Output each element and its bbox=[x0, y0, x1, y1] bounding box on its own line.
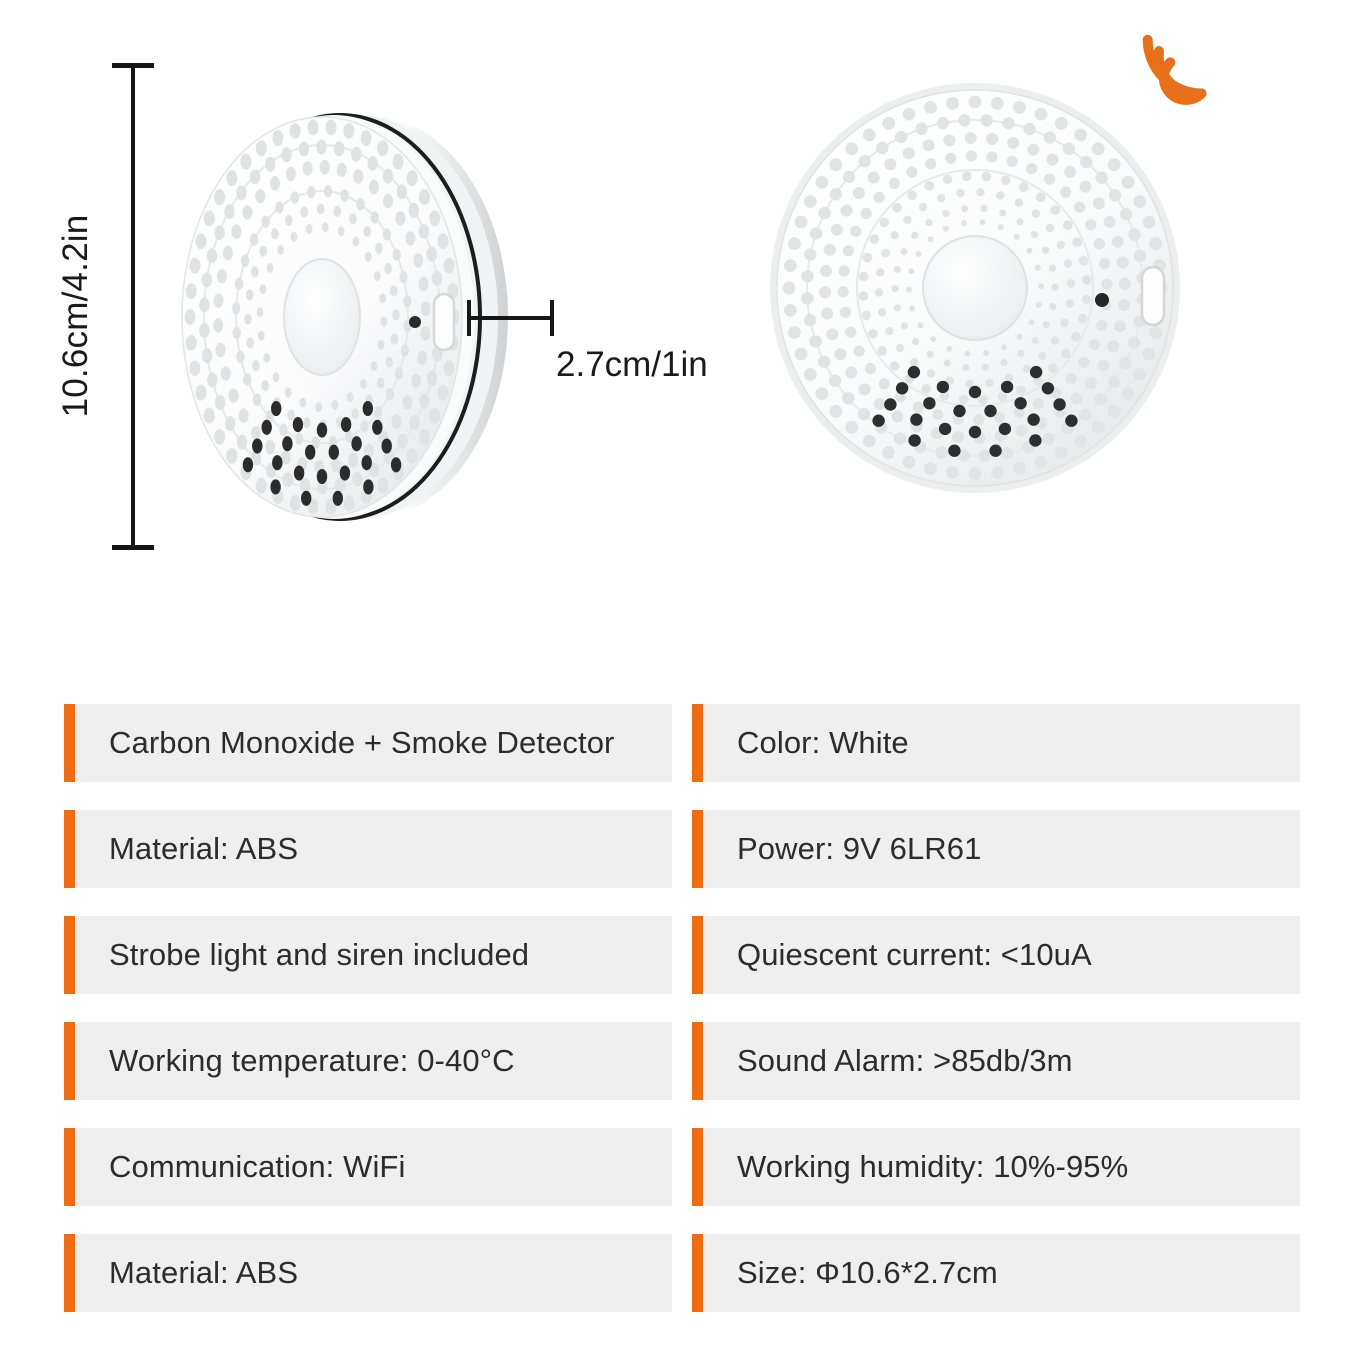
spec-label: Power: 9V 6LR61 bbox=[692, 832, 981, 866]
spec-label: Size: Φ10.6*2.7cm bbox=[692, 1256, 998, 1290]
depth-dimension-label: 2.7cm/1in bbox=[556, 345, 708, 385]
depth-dimension-cap-right bbox=[550, 300, 554, 336]
spec-row: Working humidity: 10%-95% bbox=[692, 1128, 1300, 1206]
spec-row: Communication: WiFi bbox=[64, 1128, 672, 1206]
spec-accent-bar bbox=[64, 916, 75, 994]
spec-row: Carbon Monoxide + Smoke Detector bbox=[64, 704, 672, 782]
spec-column-right: Color: WhitePower: 9V 6LR61Quiescent cur… bbox=[692, 704, 1300, 1340]
smoke-detector-front bbox=[757, 60, 1207, 510]
spec-accent-bar bbox=[692, 704, 703, 782]
spec-row: Power: 9V 6LR61 bbox=[692, 810, 1300, 888]
product-image-panel: 10.6cm/4.2in 2.7cm/1in bbox=[0, 0, 1360, 660]
spec-accent-bar bbox=[692, 810, 703, 888]
spec-accent-bar bbox=[64, 1128, 75, 1206]
spec-label: Strobe light and siren included bbox=[64, 938, 529, 972]
spec-row: Sound Alarm: >85db/3m bbox=[692, 1022, 1300, 1100]
depth-dimension-line bbox=[468, 316, 554, 320]
spec-row: Strobe light and siren included bbox=[64, 916, 672, 994]
spec-label: Sound Alarm: >85db/3m bbox=[692, 1044, 1073, 1078]
spec-row: Quiescent current: <10uA bbox=[692, 916, 1300, 994]
spec-column-left: Carbon Monoxide + Smoke DetectorMaterial… bbox=[64, 704, 672, 1340]
spec-row: Working temperature: 0-40°C bbox=[64, 1022, 672, 1100]
spec-row: Color: White bbox=[692, 704, 1300, 782]
spec-accent-bar bbox=[692, 1234, 703, 1312]
spec-label: Color: White bbox=[692, 726, 909, 760]
spec-accent-bar bbox=[64, 1022, 75, 1100]
spec-row: Size: Φ10.6*2.7cm bbox=[692, 1234, 1300, 1312]
specification-list: Carbon Monoxide + Smoke DetectorMaterial… bbox=[0, 704, 1360, 1344]
height-dimension-cap-top bbox=[112, 63, 154, 68]
spec-label: Quiescent current: <10uA bbox=[692, 938, 1092, 972]
spec-accent-bar bbox=[692, 916, 703, 994]
spec-accent-bar bbox=[692, 1022, 703, 1100]
spec-label: Material: ABS bbox=[64, 832, 298, 866]
spec-label: Working humidity: 10%-95% bbox=[692, 1150, 1128, 1184]
height-dimension-cap-bottom bbox=[112, 545, 154, 550]
spec-accent-bar bbox=[64, 810, 75, 888]
depth-dimension-cap-left bbox=[467, 300, 471, 336]
spec-accent-bar bbox=[692, 1128, 703, 1206]
spec-label: Material: ABS bbox=[64, 1256, 298, 1290]
height-dimension-label: 10.6cm/4.2in bbox=[56, 166, 96, 466]
spec-accent-bar bbox=[64, 1234, 75, 1312]
spec-label: Working temperature: 0-40°C bbox=[64, 1044, 515, 1078]
height-dimension-line bbox=[131, 65, 135, 549]
spec-label: Carbon Monoxide + Smoke Detector bbox=[64, 726, 614, 760]
spec-row: Material: ABS bbox=[64, 810, 672, 888]
spec-label: Communication: WiFi bbox=[64, 1150, 405, 1184]
spec-row: Material: ABS bbox=[64, 1234, 672, 1312]
spec-accent-bar bbox=[64, 704, 75, 782]
